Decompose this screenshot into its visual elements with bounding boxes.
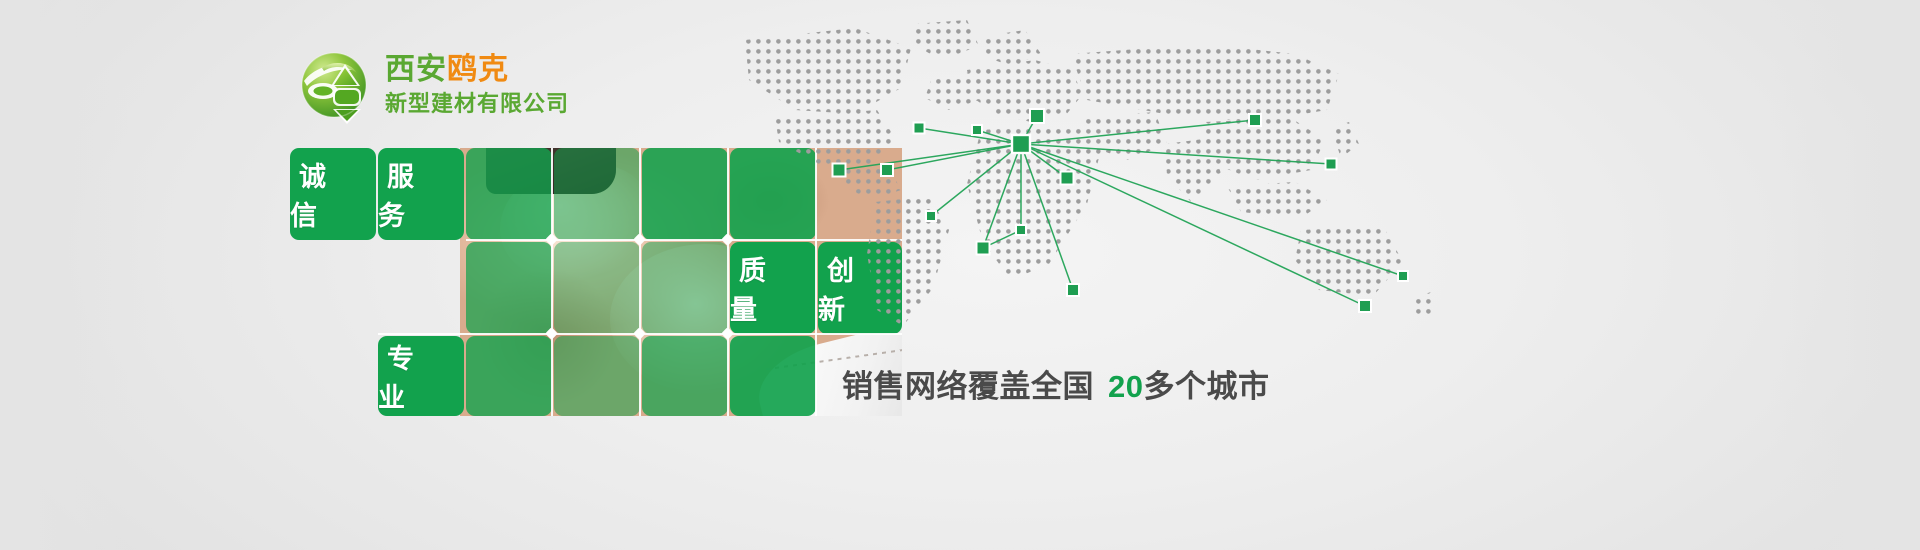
grid-line-v1 [551,148,553,416]
tagline-lead: 销售网络覆盖全国 [842,369,1094,404]
company-logo[interactable]: 西安鸥克 新型建材有限公司 [295,46,569,124]
grid-line-v3 [727,148,729,416]
tile-chengxin[interactable]: 诚 信 [290,148,376,240]
tagline-city-count: 20 [1108,369,1143,404]
tile-blank-r3c3 [466,336,552,416]
logo-wordmark: 西安鸥克 新型建材有限公司 [385,55,569,115]
dotted-world-map [735,18,1435,348]
tile-zhuanye[interactable]: 专 业 [378,336,464,416]
tile-blank-r2c4 [554,242,640,334]
logo-title-line: 西安鸥克 [385,55,569,85]
tile-fuwu[interactable]: 服 务 [378,148,464,240]
right-edge-vignette [1770,0,1920,550]
logo-subtitle: 新型建材有限公司 [385,93,569,115]
tile-blank-r2c3 [466,242,552,334]
logo-city: 西安 [385,53,447,86]
promotional-banner: 西安鸥克 新型建材有限公司 诚 信 服 务 质 量 创 新 专 业 [0,0,1920,550]
tile-blank-r1c5 [642,148,728,240]
tile-blank-r3c6 [730,336,816,416]
logo-brand: 鸥克 [447,53,509,86]
grid-line-v2 [639,148,641,416]
map-dot-field [735,18,1435,348]
tile-blank-r1c3 [466,148,552,240]
world-map-svg [735,18,1435,348]
left-edge-vignette [0,0,150,550]
tile-blank-r2c5 [642,242,728,334]
tile-blank-r3c5 [642,336,728,416]
tagline-tail: 多个城市 [1143,369,1269,404]
tile-blank-r1c4 [554,148,640,240]
globe-leaf-icon [295,46,373,124]
sales-network-tagline: 销售网络覆盖全国20多个城市 [842,361,1269,406]
tile-blank-r3c4 [554,336,640,416]
